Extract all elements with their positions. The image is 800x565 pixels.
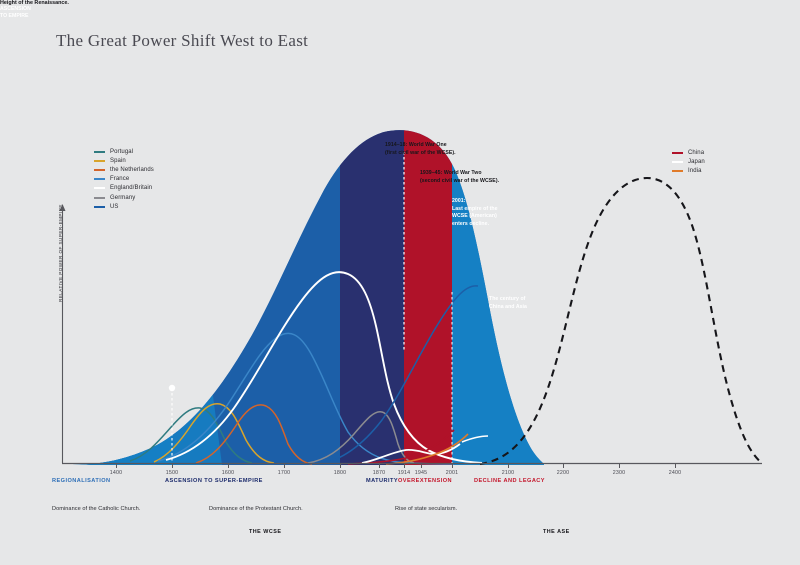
tick-label-2200: 2200 <box>557 470 570 476</box>
tick-label-2100: 2100 <box>502 470 515 476</box>
tick-2200 <box>563 463 564 468</box>
tick-label-1800: 1800 <box>334 470 347 476</box>
phase-label-decline-and-legacy: DECLINE AND LEGACY <box>474 478 545 484</box>
tick-label-1700: 1700 <box>278 470 291 476</box>
tick-label-1870: 1870 <box>373 470 386 476</box>
tick-label-1600: 1600 <box>222 470 235 476</box>
tick-1870 <box>379 463 380 468</box>
footnote-state-secularism: Rise of state secularism. <box>395 506 457 512</box>
tick-1800 <box>340 463 341 468</box>
tick-1700 <box>284 463 285 468</box>
tick-label-1914: 1914 <box>398 470 411 476</box>
tick-label-2400: 2400 <box>669 470 682 476</box>
footnote-catholic-church: Dominance of the Catholic Church. <box>52 506 140 512</box>
era-label-wcse: THE WCSE <box>249 529 281 535</box>
footnote-protestant-church: Dominance of the Protestant Church. <box>209 506 303 512</box>
tick-label-2001: 2001 <box>446 470 459 476</box>
tick-2400 <box>675 463 676 468</box>
tick-1500 <box>172 463 173 468</box>
tick-1914 <box>404 463 405 468</box>
tick-label-1400: 1400 <box>110 470 123 476</box>
phase-label-regionalisation: REGIONALISATION <box>52 478 111 484</box>
tick-1945 <box>421 463 422 468</box>
tick-1600 <box>228 463 229 468</box>
phase-label-maturity: MATURITY <box>366 478 398 484</box>
era-label-ase: THE ASE <box>543 529 570 535</box>
tick-2001 <box>452 463 453 468</box>
tick-label-1500: 1500 <box>166 470 179 476</box>
phase-label-overextension: OVEREXTENSION <box>398 478 452 484</box>
phase-label-ascension-to-super-empire: ASCENSION TO SUPER-EMPIRE <box>165 478 263 484</box>
tick-2300 <box>619 463 620 468</box>
infographic-root: The Great Power Shift West to East Portu… <box>0 0 800 565</box>
tick-2100 <box>508 463 509 468</box>
tick-label-1945: 1945 <box>415 470 428 476</box>
tick-label-2300: 2300 <box>613 470 626 476</box>
y-axis-arrow <box>60 204 66 211</box>
tick-1400 <box>116 463 117 468</box>
